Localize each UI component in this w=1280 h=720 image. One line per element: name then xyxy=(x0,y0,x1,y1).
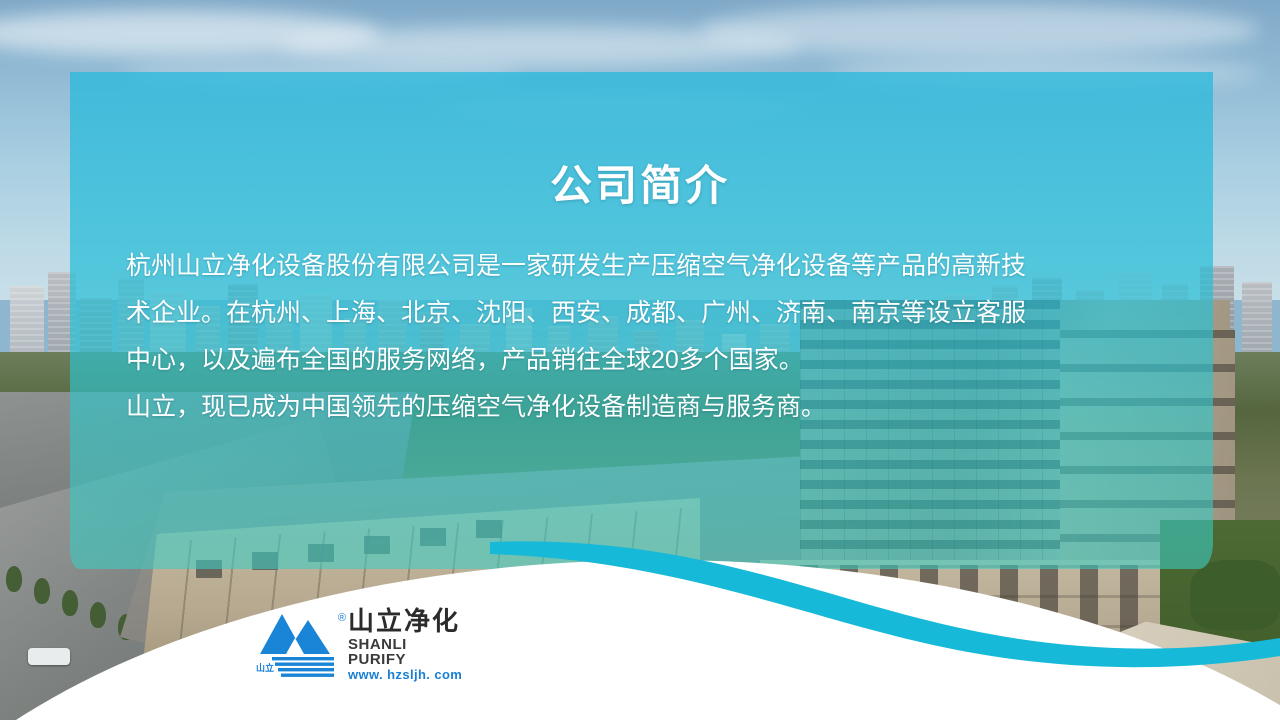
logo-mark-caption: 山立 xyxy=(256,661,274,674)
registered-trademark-icon: ® xyxy=(338,612,346,624)
cloud xyxy=(700,4,1260,56)
logo-company-name-en: SHANLI PURIFY xyxy=(348,637,467,667)
body-line: 术企业。在杭州、上海、北京、沈阳、西安、成都、广州、济南、南京等设立客服 xyxy=(126,290,1106,337)
logo-wordmark: 山立净化 SHANLI PURIFY www. hzsljh. com xyxy=(348,609,467,681)
body-text-block: 杭州山立净化设备股份有限公司是一家研发生产压缩空气净化设备等产品的高新技 术企业… xyxy=(126,243,1106,431)
logo-website-url: www. hzsljh. com xyxy=(348,668,467,681)
shanli-mountain-icon: 山立 ® xyxy=(252,610,344,680)
body-line: 山立，现已成为中国领先的压缩空气净化设备制造商与服务商。 xyxy=(126,384,1106,431)
presentation-slide: 公司简介 杭州山立净化设备股份有限公司是一家研发生产压缩空气净化设备等产品的高新… xyxy=(0,0,1280,720)
company-logo: 山立 ® 山立净化 SHANLI PURIFY www. hzsljh. com xyxy=(252,606,467,684)
body-line: 中心，以及遍布全国的服务网络，产品销往全球20多个国家。 xyxy=(126,337,1106,384)
page-title: 公司简介 xyxy=(0,152,1280,213)
logo-company-name-cn: 山立净化 xyxy=(348,609,467,635)
parked-car xyxy=(28,648,70,665)
body-line: 杭州山立净化设备股份有限公司是一家研发生产压缩空气净化设备等产品的高新技 xyxy=(126,243,1106,290)
hedge xyxy=(1190,560,1280,630)
